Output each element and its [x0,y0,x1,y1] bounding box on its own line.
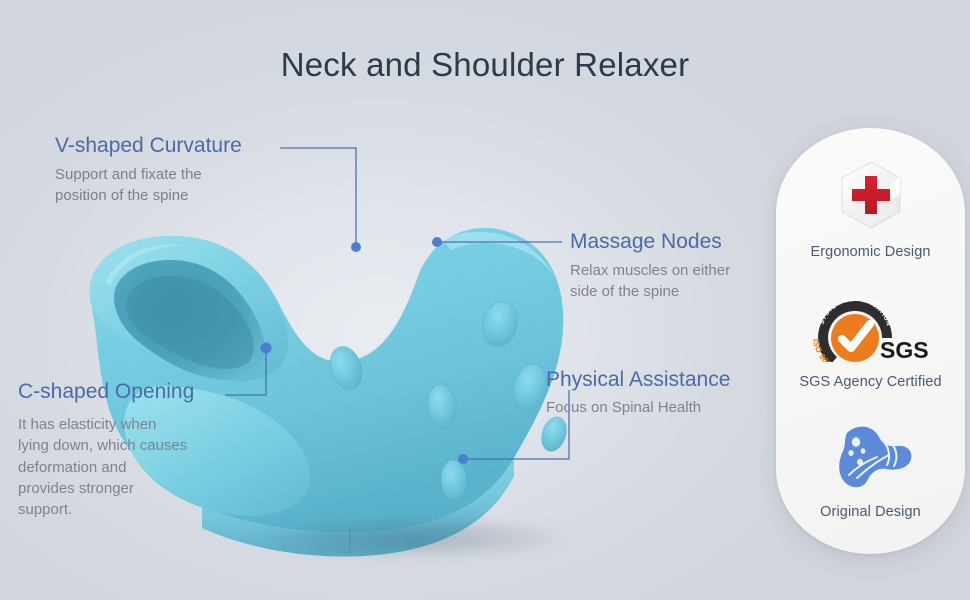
pillow-silhouette-icon [776,416,965,494]
annotation-massage-nodes: Massage Nodes Relax muscles on either si… [570,230,766,303]
annotation-v-shaped-curvature: V-shaped Curvature Support and fixate th… [55,134,242,207]
certification-panel: Ergonomic Design [776,128,965,554]
annotation-description-line: support. [18,499,196,520]
badge-sgs-agency-certified: SYSTEM CERTIFICATION CERTIFICATION DE SY… [776,286,965,390]
annotation-description-line: It has elasticity when [18,414,196,435]
annotation-description: Relax muscles on either side of the spin… [570,260,766,303]
annotation-description: Support and fixate the position of the s… [55,164,242,207]
annotation-description-line: position of the spine [55,185,242,206]
badge-caption: Original Design [776,504,965,520]
infographic-canvas: Neck and Shoulder Relaxer [0,0,970,600]
badge-ergonomic-design: Ergonomic Design [776,156,965,260]
annotation-heading: Physical Assistance [546,368,730,391]
annotation-description-line: side of the spine [570,281,766,302]
annotation-description-line: deformation and [18,457,196,478]
annotation-description: It has elasticity when lying down, which… [18,414,196,520]
badge-caption: Ergonomic Design [776,244,965,260]
product-shadow [212,510,612,566]
annotation-heading: Massage Nodes [570,230,766,253]
annotation-physical-assistance: Physical Assistance Focus on Spinal Heal… [546,368,730,418]
annotation-heading: C-shaped Opening [18,380,196,403]
annotation-description-line: Relax muscles on either [570,260,766,281]
annotation-description-line: provides stronger [18,478,196,499]
sgs-wordmark: SGS [880,337,929,362]
red-cross-hexagon-icon [776,156,965,234]
annotation-description: Focus on Spinal Health [546,397,730,418]
badge-caption: SGS Agency Certified [776,374,965,390]
annotation-description-line: lying down, which causes [18,435,196,456]
annotation-c-shaped-opening: C-shaped Opening It has elasticity when … [18,380,196,521]
sgs-certification-icon: SYSTEM CERTIFICATION CERTIFICATION DE SY… [776,286,965,364]
page-title: Neck and Shoulder Relaxer [0,46,970,84]
annotation-description-line: Focus on Spinal Health [546,397,730,418]
annotation-heading: V-shaped Curvature [55,134,242,157]
badge-original-design: Original Design [776,416,965,520]
annotation-description-line: Support and fixate the [55,164,242,185]
